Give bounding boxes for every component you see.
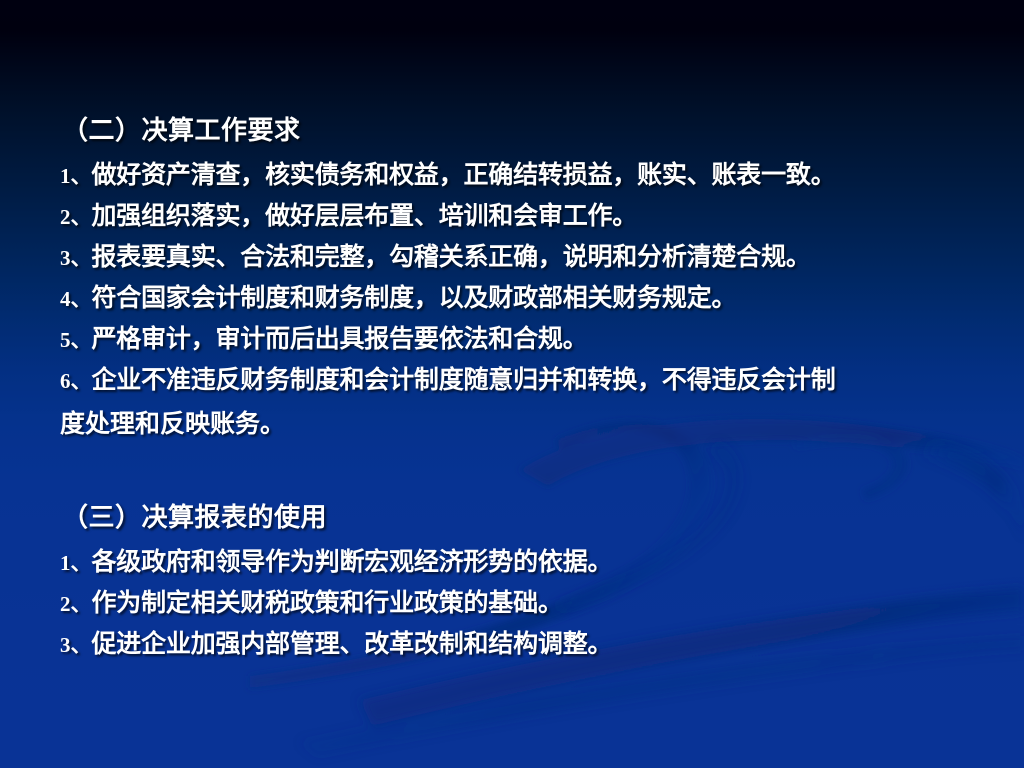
list-item: 3、促进企业加强内部管理、改革改制和结构调整。 (60, 632, 612, 657)
list-item-number: 2、 (60, 205, 92, 229)
list-item-number: 4、 (60, 287, 92, 311)
list-item-text: 报表要真实、合法和完整，勾稽关系正确，说明和分析清楚合规。 (92, 243, 811, 271)
list-item-number: 6、 (60, 369, 92, 393)
list-item-number: 5、 (60, 328, 92, 352)
list-item-number: 1、 (60, 164, 92, 188)
list-item-text: 各级政府和领导作为判断宏观经济形势的依据。 (92, 548, 613, 576)
list-item-text: 企业不准违反财务制度和会计制度随意归并和转换，不得违反会计制 (92, 366, 836, 394)
section-heading-2: （三）决算报表的使用 (62, 505, 327, 531)
list-item-text: 做好资产清查，核实债务和权益，正确结转损益，账实、账表一致。 (92, 161, 836, 189)
list-item: 4、符合国家会计制度和财务制度，以及财政部相关财务规定。 (60, 286, 736, 311)
list-item: 2、作为制定相关财税政策和行业政策的基础。 (60, 591, 563, 616)
list-item-text: 加强组织落实，做好层层布置、培训和会审工作。 (92, 202, 638, 230)
list-item-text: 严格审计，审计而后出具报告要依法和合规。 (92, 325, 588, 353)
section-heading-1: （二）决算工作要求 (62, 118, 301, 144)
list-item-text: 作为制定相关财税政策和行业政策的基础。 (92, 589, 563, 617)
list-item-number: 2、 (60, 592, 92, 616)
list-item-continuation: 度处理和反映账务。 (60, 412, 285, 437)
list-item: 6、企业不准违反财务制度和会计制度随意归并和转换，不得违反会计制 (60, 368, 836, 393)
list-item-number: 3、 (60, 633, 92, 657)
list-item: 3、报表要真实、合法和完整，勾稽关系正确，说明和分析清楚合规。 (60, 245, 811, 270)
list-item: 1、各级政府和领导作为判断宏观经济形势的依据。 (60, 550, 612, 575)
list-item: 1、做好资产清查，核实债务和权益，正确结转损益，账实、账表一致。 (60, 163, 836, 188)
list-item-number: 1、 (60, 551, 92, 575)
list-item: 5、严格审计，审计而后出具报告要依法和合规。 (60, 327, 588, 352)
presentation-slide: （二）决算工作要求 1、做好资产清查，核实债务和权益，正确结转损益，账实、账表一… (0, 0, 1024, 768)
list-item-text: 符合国家会计制度和财务制度，以及财政部相关财务规定。 (92, 284, 737, 312)
list-item: 2、加强组织落实，做好层层布置、培训和会审工作。 (60, 204, 637, 229)
list-item-text: 促进企业加强内部管理、改革改制和结构调整。 (92, 630, 613, 658)
list-item-number: 3、 (60, 246, 92, 270)
slide-text-content: （二）决算工作要求 1、做好资产清查，核实债务和权益，正确结转损益，账实、账表一… (0, 0, 1024, 768)
